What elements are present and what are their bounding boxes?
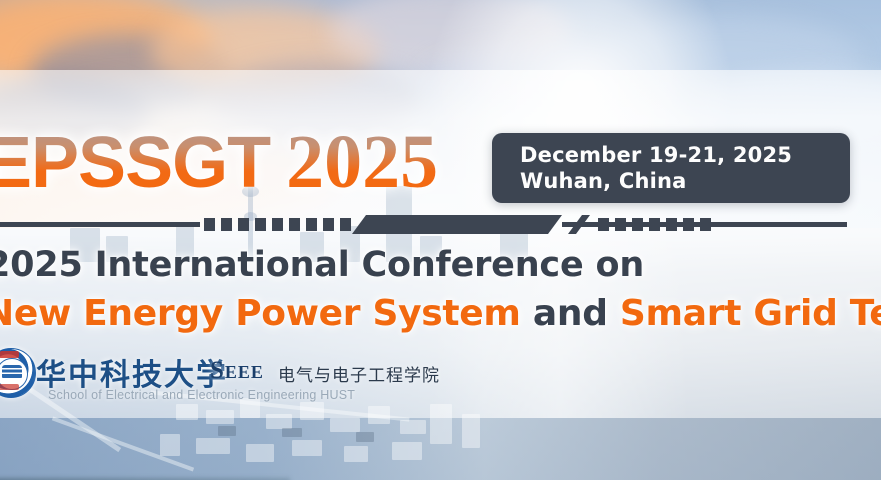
school-name-chinese: 电气与电子工程学院 xyxy=(278,361,440,386)
subtitle-topic-first: New Energy Power System xyxy=(0,293,521,334)
building-shadow xyxy=(218,426,236,436)
band-right-line xyxy=(562,222,847,227)
school-name-english: School of Electrical and Electronic Engi… xyxy=(48,388,355,402)
seee-wordmark: SEEE xyxy=(210,357,264,385)
organizer-logo-row: 华中科技大学 SEEE 电气与电子工程学院 School of Electric… xyxy=(0,348,520,406)
building-block xyxy=(196,438,230,454)
band-dash xyxy=(255,218,266,231)
band-dash xyxy=(340,218,351,231)
seal-emblem-mark xyxy=(2,365,22,378)
seal-red-banner-top xyxy=(0,351,19,358)
band-parallelogram xyxy=(352,215,562,234)
subtitle-conjunction: and xyxy=(521,293,620,334)
hust-seal-icon xyxy=(0,348,36,398)
title-acronym-text: EPSSGT xyxy=(0,123,270,203)
band-dash xyxy=(306,218,317,231)
conference-acronym-title: EPSSGT2025 xyxy=(0,124,438,200)
seee-initial: S xyxy=(210,357,225,384)
band-dash xyxy=(221,218,232,231)
building-shadow xyxy=(356,432,374,442)
band-dash xyxy=(238,218,249,231)
band-dash xyxy=(323,218,334,231)
band-dash xyxy=(272,218,283,231)
band-dash xyxy=(204,218,215,231)
band-dash xyxy=(289,218,300,231)
building-block xyxy=(344,446,368,462)
subtitle-topic-second: Smart Grid Technologies xyxy=(620,293,881,334)
conference-subtitle-line1: 2025 International Conference on xyxy=(0,248,644,283)
building-block xyxy=(292,440,322,456)
seee-remainder: EEE xyxy=(225,362,264,382)
building-block xyxy=(330,418,360,432)
seal-red-banner-bottom xyxy=(0,384,19,390)
decorative-divider-band xyxy=(0,212,881,238)
building-block xyxy=(462,414,480,448)
building-block xyxy=(400,420,426,434)
conference-banner: EPSSGT2025 December 19-21, 2025 Wuhan, C… xyxy=(0,0,881,480)
band-left-line-dup xyxy=(0,222,200,227)
building-block xyxy=(160,434,180,456)
badge-date-line: December 19-21, 2025 xyxy=(520,142,850,168)
building-block xyxy=(246,444,274,462)
title-year-text: 2025 xyxy=(270,120,438,204)
date-location-badge: December 19-21, 2025 Wuhan, China xyxy=(492,133,850,203)
badge-location-line: Wuhan, China xyxy=(520,168,850,194)
building-shadow xyxy=(282,428,302,437)
conference-subtitle-line2: New Energy Power System and Smart Grid T… xyxy=(0,296,881,332)
building-block xyxy=(392,442,422,460)
